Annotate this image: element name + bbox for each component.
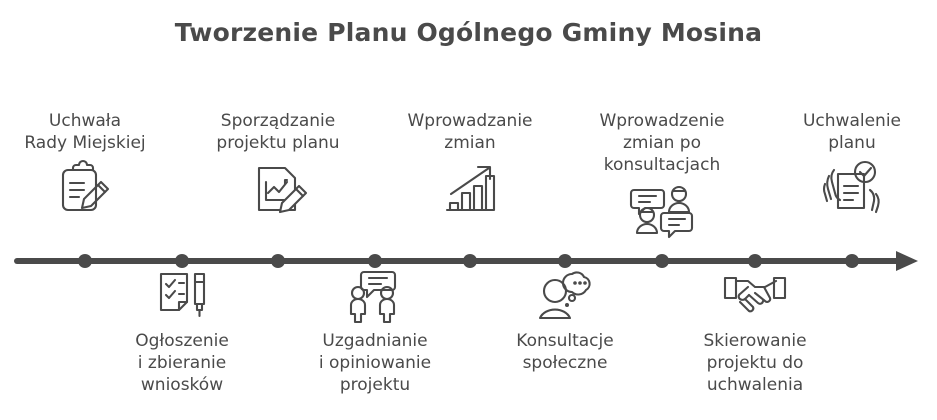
timeline-node-7[interactable]	[655, 254, 669, 268]
page-title: Tworzenie Planu Ogólnego Gminy Mosina	[0, 18, 937, 47]
timeline-node-5[interactable]	[463, 254, 477, 268]
timeline-stage-8[interactable]: Skierowanie projektu do uchwalenia	[655, 268, 855, 396]
timeline-stage-9[interactable]: Uchwalenie planu	[752, 110, 937, 216]
handshake-icon	[655, 268, 855, 326]
timeline-node-9[interactable]	[845, 254, 859, 268]
stage-label-9: Uchwalenie planu	[752, 110, 937, 154]
stage-label-7: Wprowadzenie zmian po konsultacjach	[562, 110, 762, 176]
timeline-node-6[interactable]	[558, 254, 572, 268]
person-thought-cloud-icon	[465, 268, 665, 326]
timeline-stage-3[interactable]: Sporządzanie projektu planu	[178, 110, 378, 216]
stage-label-3: Sporządzanie projektu planu	[178, 110, 378, 154]
timeline-stage-5[interactable]: Wprowadzanie zmian	[370, 110, 570, 216]
stage-label-8: Skierowanie projektu do uchwalenia	[655, 330, 855, 396]
timeline-stage-4[interactable]: Uzgadnianie i opiniowanie projektu	[275, 268, 475, 396]
stage-label-5: Wprowadzanie zmian	[370, 110, 570, 154]
infographic-canvas: Tworzenie Planu Ogólnego Gminy Mosina Uc…	[0, 0, 937, 420]
timeline-stage-2[interactable]: Ogłoszenie i zbieranie wniosków	[82, 268, 282, 396]
document-chart-pencil-icon	[178, 158, 378, 216]
timeline-node-2[interactable]	[175, 254, 189, 268]
timeline-stage-6[interactable]: Konsultacje społeczne	[465, 268, 665, 374]
checklist-pen-icon	[82, 268, 282, 326]
timeline-node-8[interactable]	[748, 254, 762, 268]
people-chat-bubbles-icon	[562, 180, 762, 238]
timeline-node-4[interactable]	[368, 254, 382, 268]
timeline-node-3[interactable]	[271, 254, 285, 268]
timeline-stage-1[interactable]: Uchwała Rady Miejskiej	[0, 110, 185, 216]
timeline-arrow-head-icon	[896, 251, 918, 271]
stage-label-4: Uzgadnianie i opiniowanie projektu	[275, 330, 475, 396]
hands-document-check-icon	[752, 158, 937, 216]
stage-label-2: Ogłoszenie i zbieranie wniosków	[82, 330, 282, 396]
stage-label-6: Konsultacje społeczne	[465, 330, 665, 374]
bar-chart-growth-arrow-icon	[370, 158, 570, 216]
stage-label-1: Uchwała Rady Miejskiej	[0, 110, 185, 154]
clipboard-pencil-icon	[0, 158, 185, 216]
timeline-axis-line	[14, 258, 904, 264]
two-people-speech-bubble-icon	[275, 268, 475, 326]
timeline-node-1[interactable]	[78, 254, 92, 268]
timeline-stage-7[interactable]: Wprowadzenie zmian po konsultacjach	[562, 110, 762, 238]
